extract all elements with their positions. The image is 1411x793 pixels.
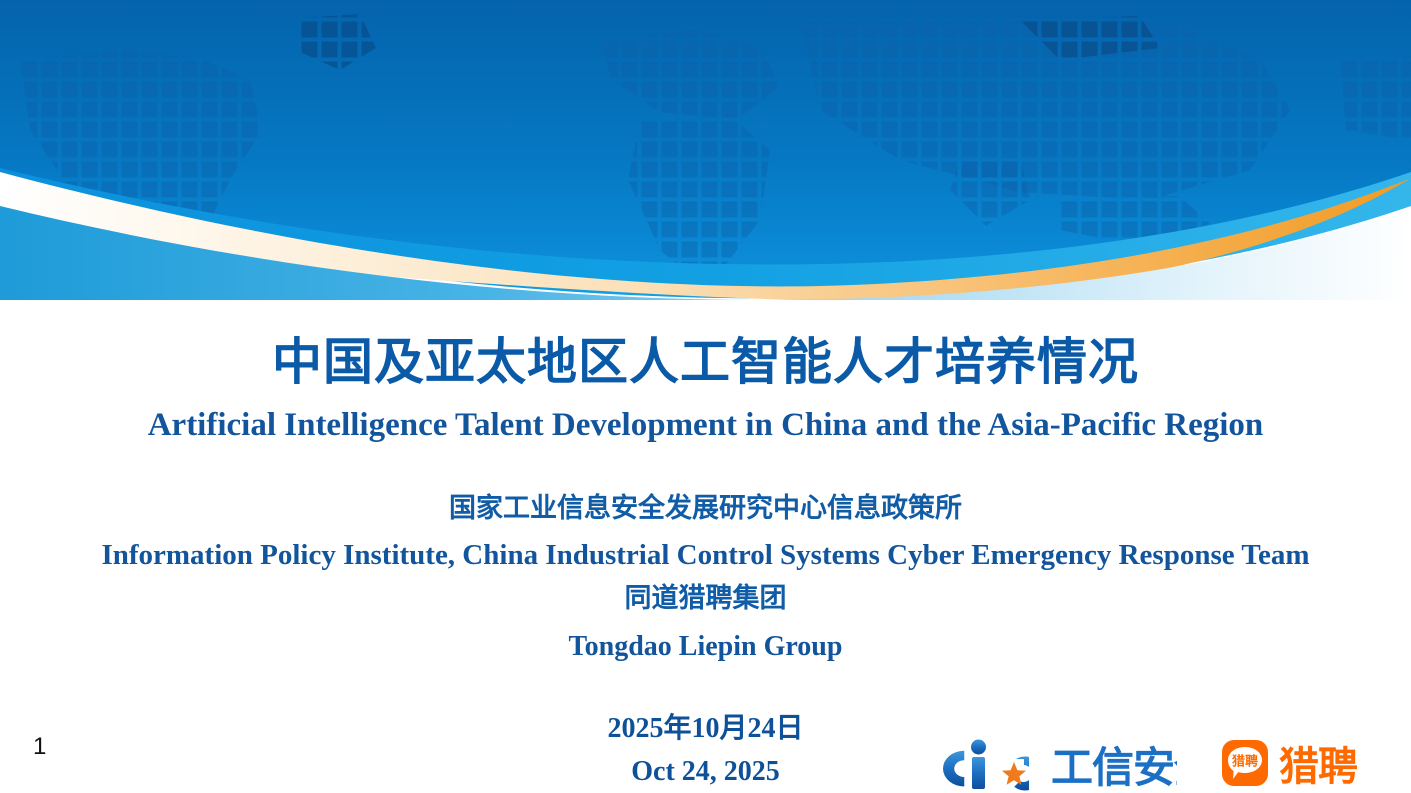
liepin-wordmark-text: 猎聘 [1279, 745, 1358, 789]
liepin-badge-text: 猎聘 [1232, 754, 1258, 769]
group-name-cn: 同道猎聘集团 [0, 582, 1411, 614]
liepin-logo: 猎聘 猎聘 猎聘 猎聘 [1221, 738, 1369, 790]
page-number: 1 [33, 735, 46, 759]
header-banner [0, 0, 1411, 300]
cic-logo: 工信安全 cic 工信安全 [925, 735, 1177, 793]
logo-row: 工信安全 cic 工信安全 猎聘 猎聘 猎聘 猎聘 [925, 735, 1369, 793]
slide: 中国及亚太地区人工智能人才培养情况 Artificial Intelligenc… [0, 0, 1411, 793]
organization-name-en: Information Policy Institute, China Indu… [0, 538, 1411, 573]
organization-name-cn: 国家工业信息安全发展研究中心信息政策所 [0, 492, 1411, 524]
title-block: 中国及亚太地区人工智能人才培养情况 Artificial Intelligenc… [0, 300, 1411, 789]
cic-logo-graphic: 工信安全 [925, 735, 1177, 793]
cic-wordmark-text: 工信安全 [1051, 744, 1177, 791]
group-name-en: Tongdao Liepin Group [0, 630, 1411, 664]
liepin-logo-graphic: 猎聘 猎聘 [1221, 738, 1369, 790]
page-title-en: Artificial Intelligence Talent Developme… [0, 406, 1411, 446]
page-title-cn: 中国及亚太地区人工智能人才培养情况 [0, 334, 1411, 390]
banner-graphic [0, 0, 1411, 300]
